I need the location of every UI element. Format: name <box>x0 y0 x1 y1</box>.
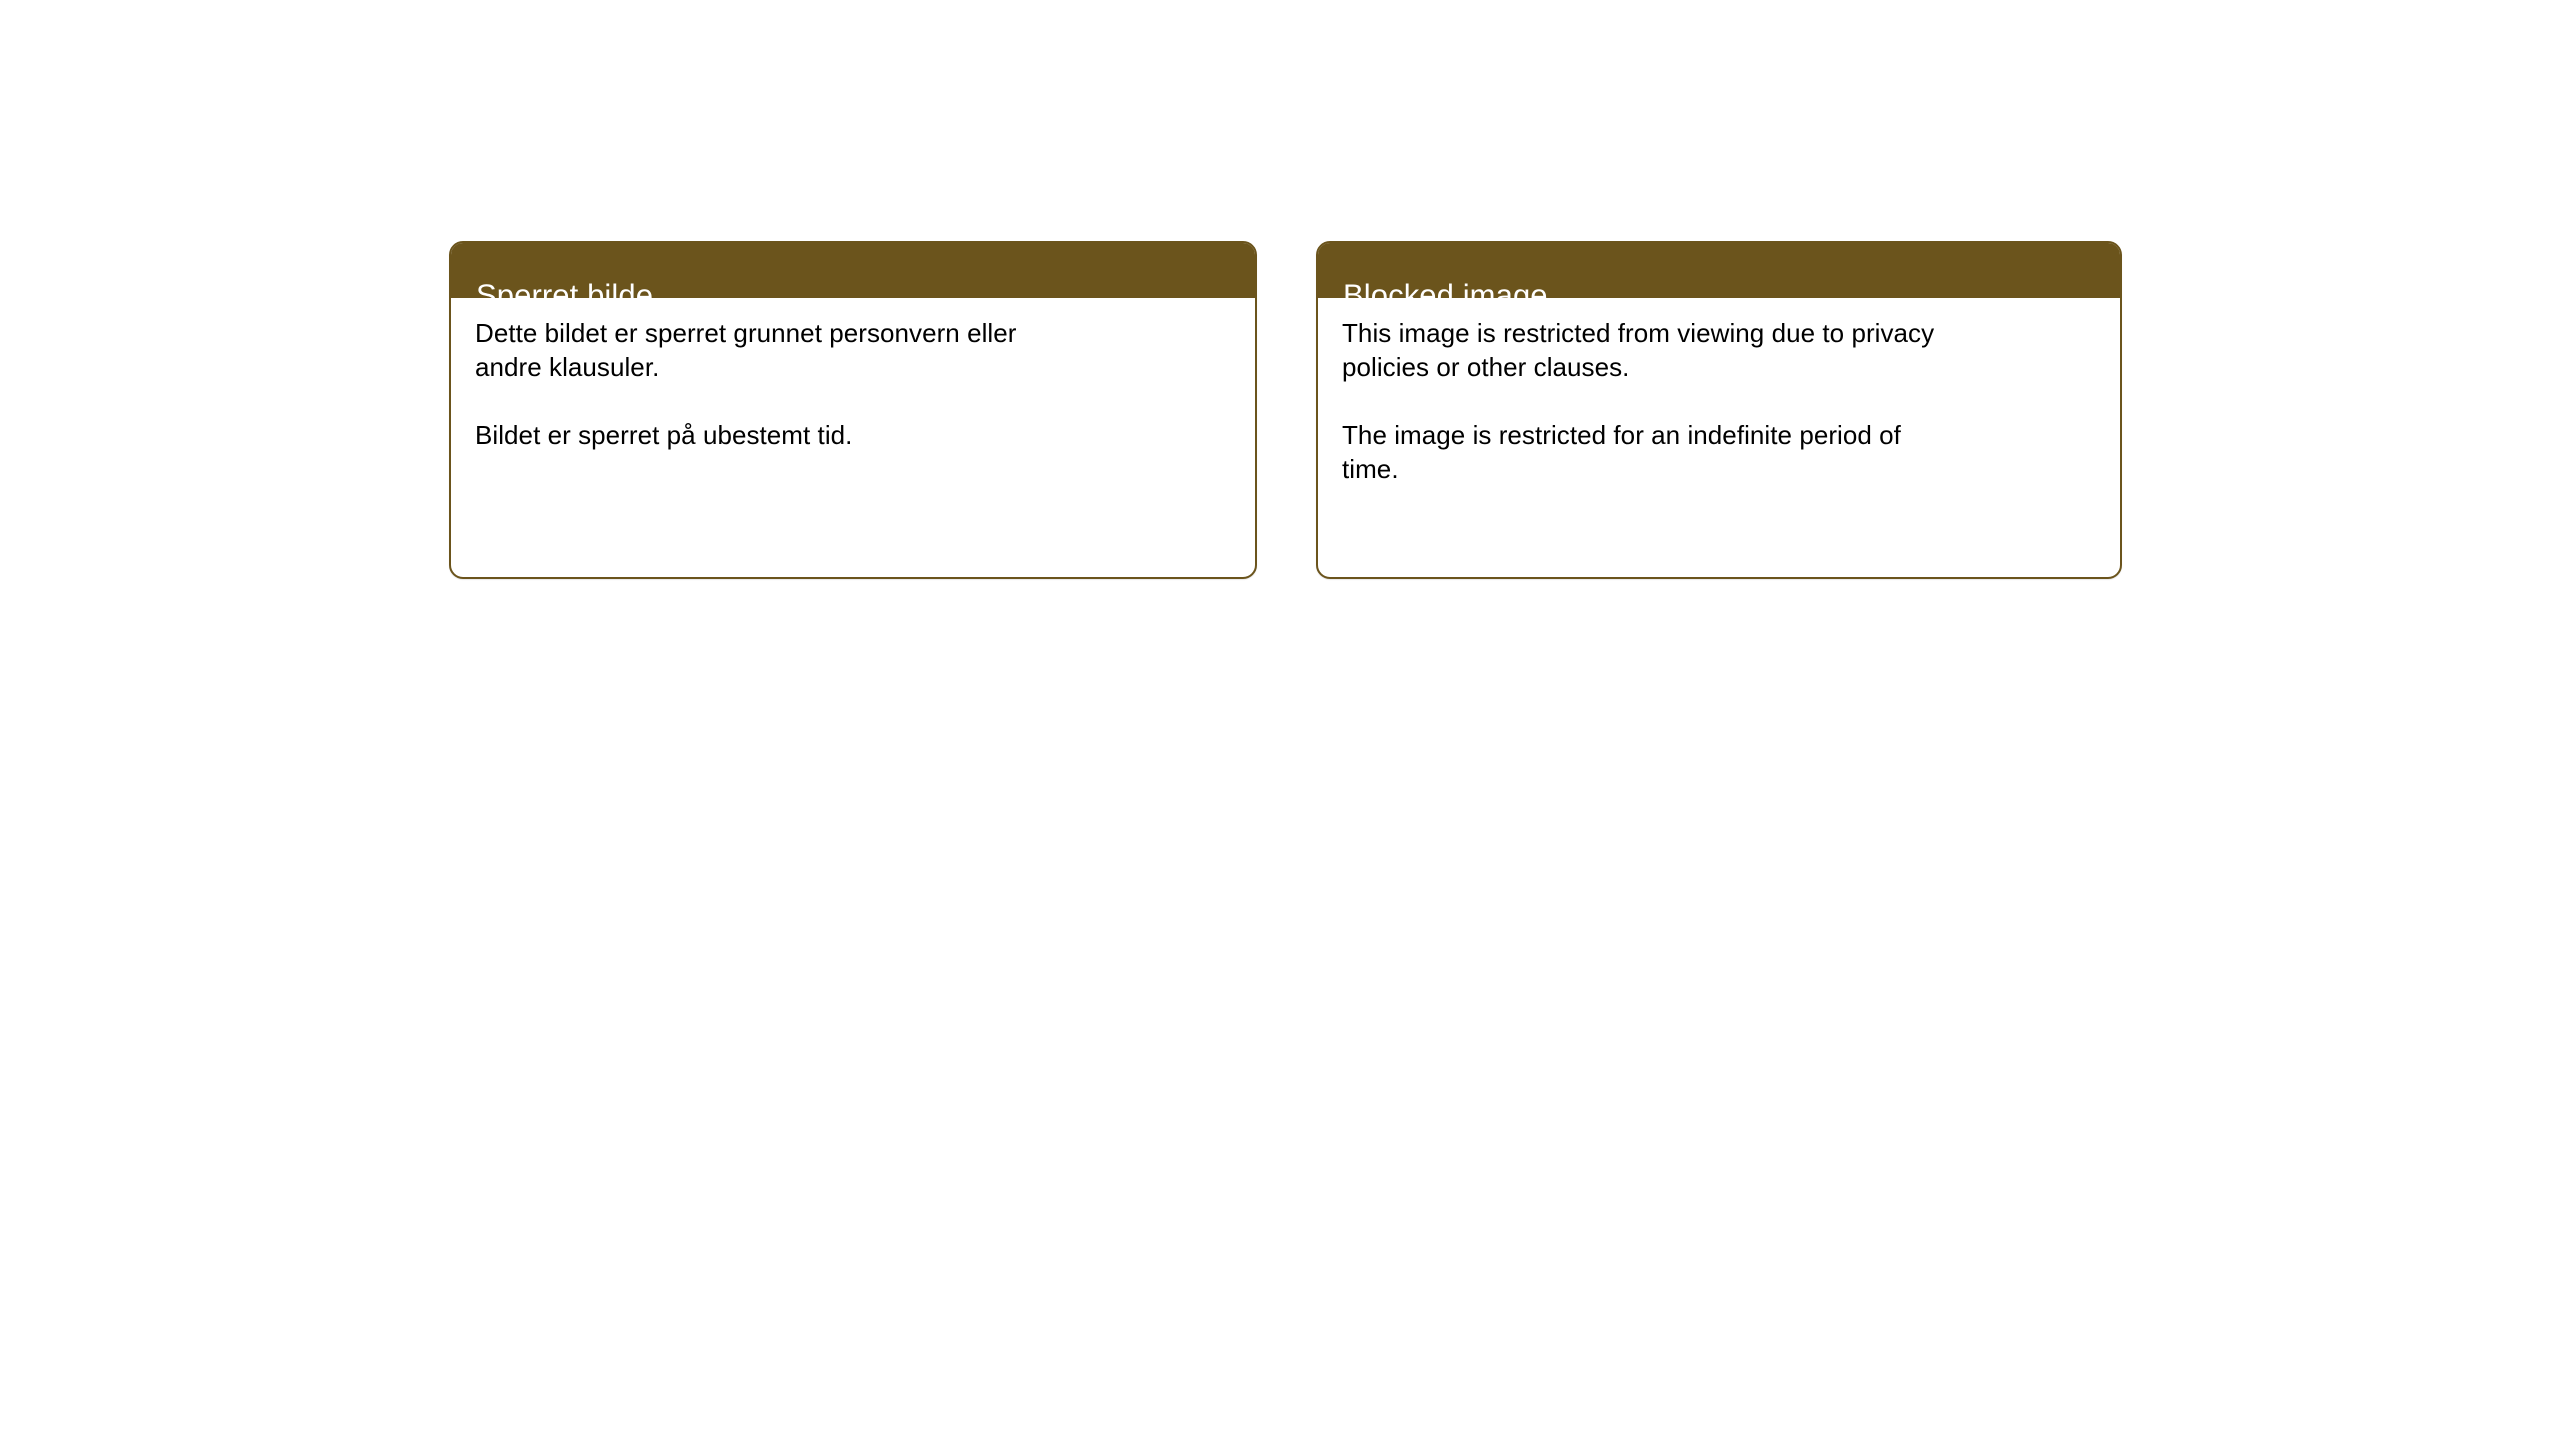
card-paragraph-duration-norwegian: Bildet er sperret på ubestemt tid. <box>475 418 1035 452</box>
card-paragraph-reason-english: This image is restricted from viewing du… <box>1342 316 1942 384</box>
blocked-image-notice-norwegian: Sperret bilde Dette bildet er sperret gr… <box>449 241 1257 579</box>
notice-stage: Sperret bilde Dette bildet er sperret gr… <box>0 0 2560 1440</box>
card-title-english: Blocked image <box>1343 277 1548 313</box>
card-paragraph-reason-norwegian: Dette bildet er sperret grunnet personve… <box>475 316 1035 384</box>
card-header-norwegian: Sperret bilde <box>451 243 1255 298</box>
card-title-norwegian: Sperret bilde <box>476 277 653 313</box>
blocked-image-notice-english: Blocked image This image is restricted f… <box>1316 241 2122 579</box>
card-body-norwegian: Dette bildet er sperret grunnet personve… <box>451 298 1255 472</box>
card-header-english: Blocked image <box>1318 243 2120 298</box>
card-paragraph-duration-english: The image is restricted for an indefinit… <box>1342 418 1942 486</box>
card-body-english: This image is restricted from viewing du… <box>1318 298 2120 506</box>
